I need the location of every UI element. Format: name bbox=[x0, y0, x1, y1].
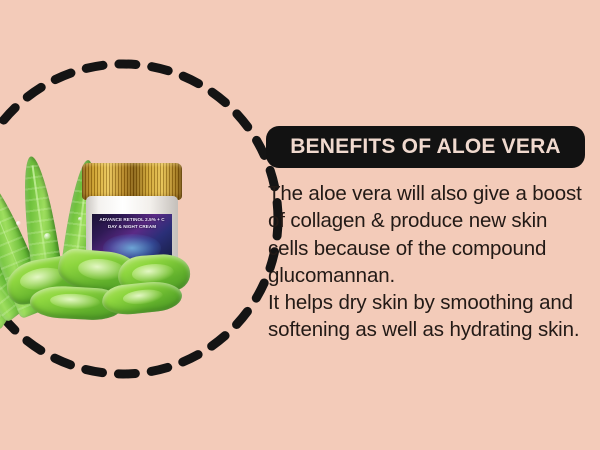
body-copy: The aloe vera will also give a boost of … bbox=[268, 180, 593, 344]
headline-banner: BENEFITS OF ALOE VERA bbox=[266, 126, 585, 168]
water-droplet bbox=[78, 217, 82, 221]
jar-label-line-1: ADVANCE RETINOL 2.5% + C bbox=[92, 218, 172, 223]
water-droplet bbox=[44, 233, 51, 240]
body-paragraph-1: The aloe vera will also give a boost of … bbox=[268, 180, 593, 289]
aloe-vera-benefits-poster: Aroma ADVANCE RETINOL 2.5% + C DAY & NIG… bbox=[0, 0, 600, 450]
jar-label-line-2: DAY & NIGHT CREAM bbox=[92, 225, 172, 230]
headline-text: BENEFITS OF ALOE VERA bbox=[290, 135, 561, 159]
water-droplet bbox=[16, 221, 21, 226]
body-paragraph-2: It helps dry skin by smoothing and softe… bbox=[268, 289, 593, 344]
jar-lid bbox=[82, 163, 182, 200]
product-photo-group: Aroma ADVANCE RETINOL 2.5% + C DAY & NIG… bbox=[0, 155, 240, 360]
